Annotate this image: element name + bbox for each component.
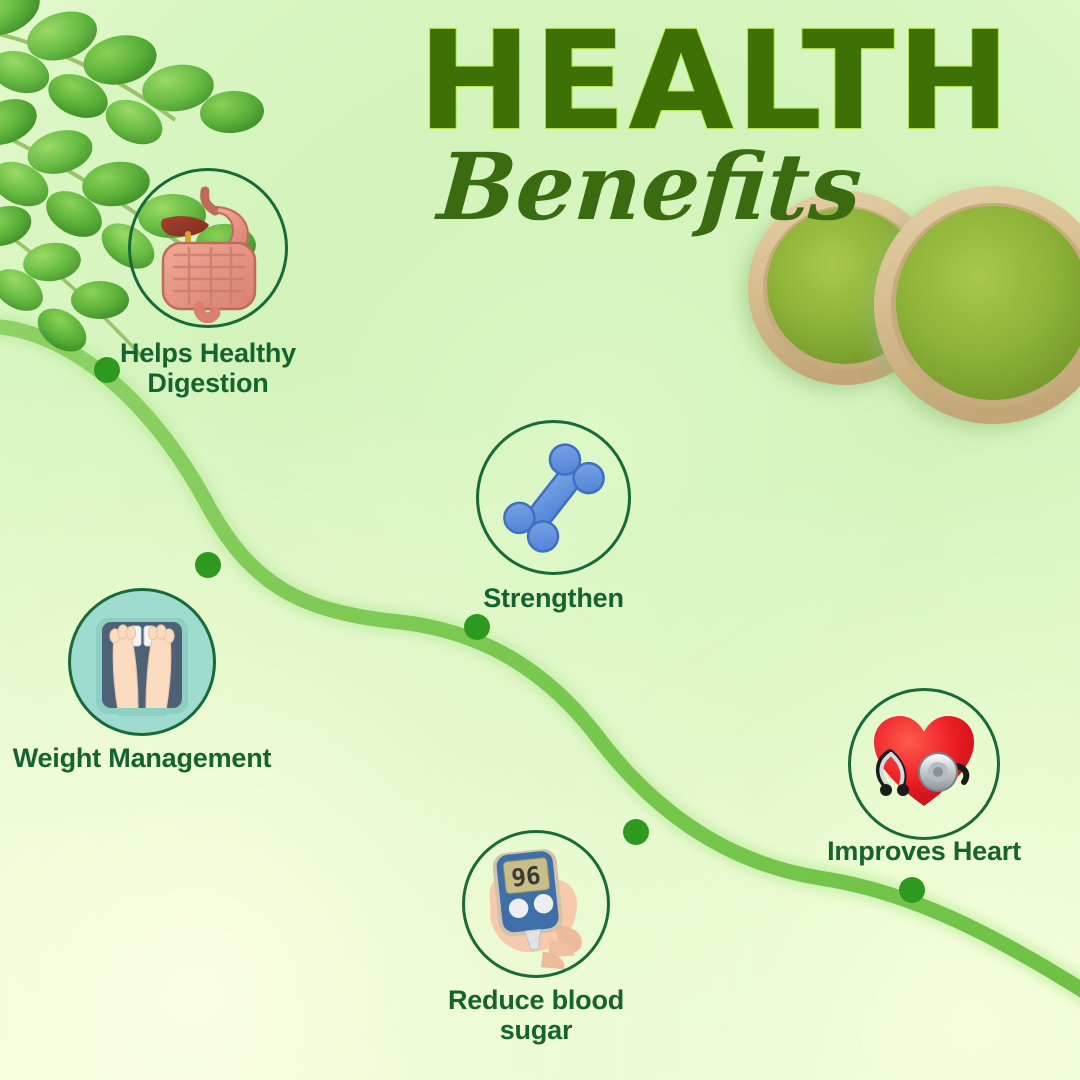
- benefit-label-strengthen: Strengthen: [424, 583, 684, 613]
- glucose-meter-icon: 96: [465, 831, 607, 977]
- icon-ring-weight: [68, 588, 216, 736]
- benefit-node-weight[interactable]: Weight Management: [68, 588, 216, 736]
- heart-stethoscope-icon: [854, 694, 994, 834]
- page-subtitle: Benefits: [232, 141, 1068, 233]
- benefit-node-sugar[interactable]: 96 Reduce blood sugar: [462, 830, 610, 978]
- icon-ring-sugar: 96: [462, 830, 610, 978]
- icon-ring-strengthen: [476, 420, 631, 575]
- icon-ring-digestion: [128, 168, 288, 328]
- glucose-reading: 96: [510, 861, 542, 893]
- benefit-node-heart[interactable]: Improves Heart: [848, 688, 1000, 840]
- benefit-label-weight: Weight Management: [0, 743, 312, 773]
- page-title: HEALTH: [365, 18, 1065, 147]
- icon-ring-heart: [848, 688, 1000, 840]
- bone-icon: [489, 433, 619, 563]
- weight-scale-icon: [72, 592, 212, 732]
- benefit-node-strengthen[interactable]: Strengthen: [476, 420, 631, 575]
- digestive-system-icon: [133, 173, 283, 323]
- benefit-label-digestion: Helps Healthy Digestion: [88, 338, 328, 398]
- benefit-label-heart: Improves Heart: [784, 836, 1064, 866]
- stethoscope-chestpiece: [919, 753, 957, 791]
- benefit-label-sugar: Reduce blood sugar: [411, 985, 661, 1045]
- benefit-node-digestion[interactable]: Helps Healthy Digestion: [128, 168, 288, 328]
- health-benefits-poster: HEALTH Benefits: [0, 0, 1080, 1080]
- poster-title-block: HEALTH Benefits: [365, 18, 1065, 233]
